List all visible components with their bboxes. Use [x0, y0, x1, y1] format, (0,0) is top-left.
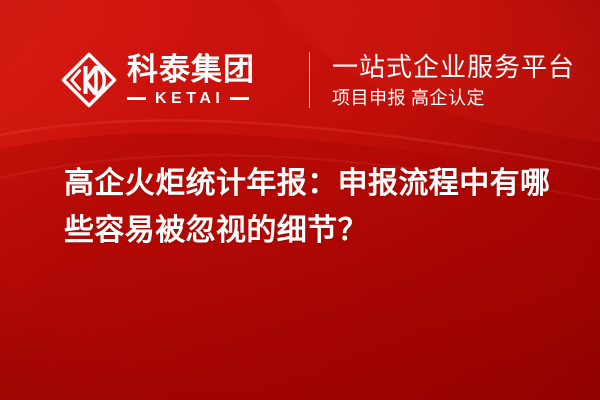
promo-banner: 科泰集团 KETAI 一站式企业服务平台 项目申报 高企认定 高企火炬统计年报：… — [0, 0, 600, 400]
tagline-secondary: 项目申报 高企认定 — [332, 86, 575, 110]
brand-tagline: 一站式企业服务平台 项目申报 高企认定 — [332, 51, 575, 110]
page-title: 高企火炬统计年报：申报流程中有哪些容易被忽视的细节？ — [64, 160, 556, 254]
brand-logo-wordmark: 科泰集团 KETAI — [127, 53, 285, 107]
header-divider — [309, 52, 310, 108]
brand-name-cn: 科泰集团 — [127, 53, 285, 87]
banner-header: 科泰集团 KETAI 一站式企业服务平台 项目申报 高企认定 — [60, 42, 575, 118]
brand-name-en: KETAI — [146, 90, 230, 107]
wordmark-right-rule-icon — [230, 97, 249, 100]
tagline-primary: 一站式企业服务平台 — [332, 51, 575, 83]
ketai-diamond-kd-monogram-icon — [60, 51, 118, 109]
wordmark-left-rule-icon — [127, 97, 146, 100]
brand-name-en-row: KETAI — [127, 90, 285, 107]
brand-logo[interactable]: 科泰集团 KETAI — [60, 51, 285, 109]
